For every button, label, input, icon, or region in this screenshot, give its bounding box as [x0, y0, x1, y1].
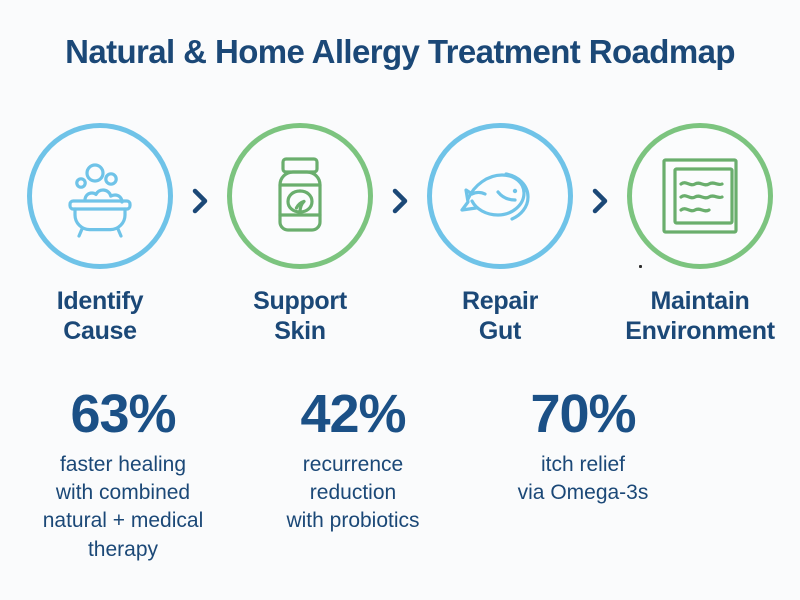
stat-number: 63% [8, 386, 238, 443]
air-filter-icon [659, 155, 741, 237]
chevron-right-icon [589, 186, 611, 216]
roadmap-step-identify-cause[interactable]: Identify Cause [0, 123, 200, 346]
step-circle-support-skin [227, 123, 373, 269]
step-label-support-skin: Support Skin [253, 287, 347, 346]
decorative-speck [639, 265, 642, 268]
stat-description: itch relief via Omega-3s [468, 451, 698, 508]
stat-block-recurrence-reduction: 42% recurrence reduction with probiotics [238, 386, 468, 564]
step-label-identify-cause: Identify Cause [57, 287, 144, 346]
chevron-right-icon [389, 186, 411, 216]
roadmap-step-support-skin[interactable]: Support Skin [200, 123, 400, 346]
step-label-repair-gut: Repair Gut [462, 287, 538, 346]
statistics-row: 63% faster healing with combined natural… [0, 386, 800, 564]
supplement-jar-leaf-icon [256, 152, 344, 240]
fish-icon [454, 150, 546, 242]
bathtub-bubbles-icon [54, 150, 146, 242]
step-circle-repair-gut [427, 123, 573, 269]
stat-number: 70% [468, 386, 698, 443]
roadmap-step-maintain-environment[interactable]: Maintain Environment [600, 123, 800, 346]
stat-description: recurrence reduction with probiotics [238, 451, 468, 536]
step-circle-maintain-environment [627, 123, 773, 269]
stat-block-itch-relief: 70% itch relief via Omega-3s [468, 386, 698, 564]
chevron-right-icon [189, 186, 211, 216]
roadmap-step-repair-gut[interactable]: Repair Gut [400, 123, 600, 346]
roadmap-steps: Identify Cause Support Skin [0, 123, 800, 353]
page-title: Natural & Home Allergy Treatment Roadmap [0, 33, 800, 71]
step-circle-identify-cause [27, 123, 173, 269]
stat-block-faster-healing: 63% faster healing with combined natural… [8, 386, 238, 564]
stat-number: 42% [238, 386, 468, 443]
infographic-canvas: Natural & Home Allergy Treatment Roadmap [0, 0, 800, 600]
step-label-maintain-environment: Maintain Environment [625, 287, 775, 346]
stat-description: faster healing with combined natural + m… [8, 451, 238, 564]
